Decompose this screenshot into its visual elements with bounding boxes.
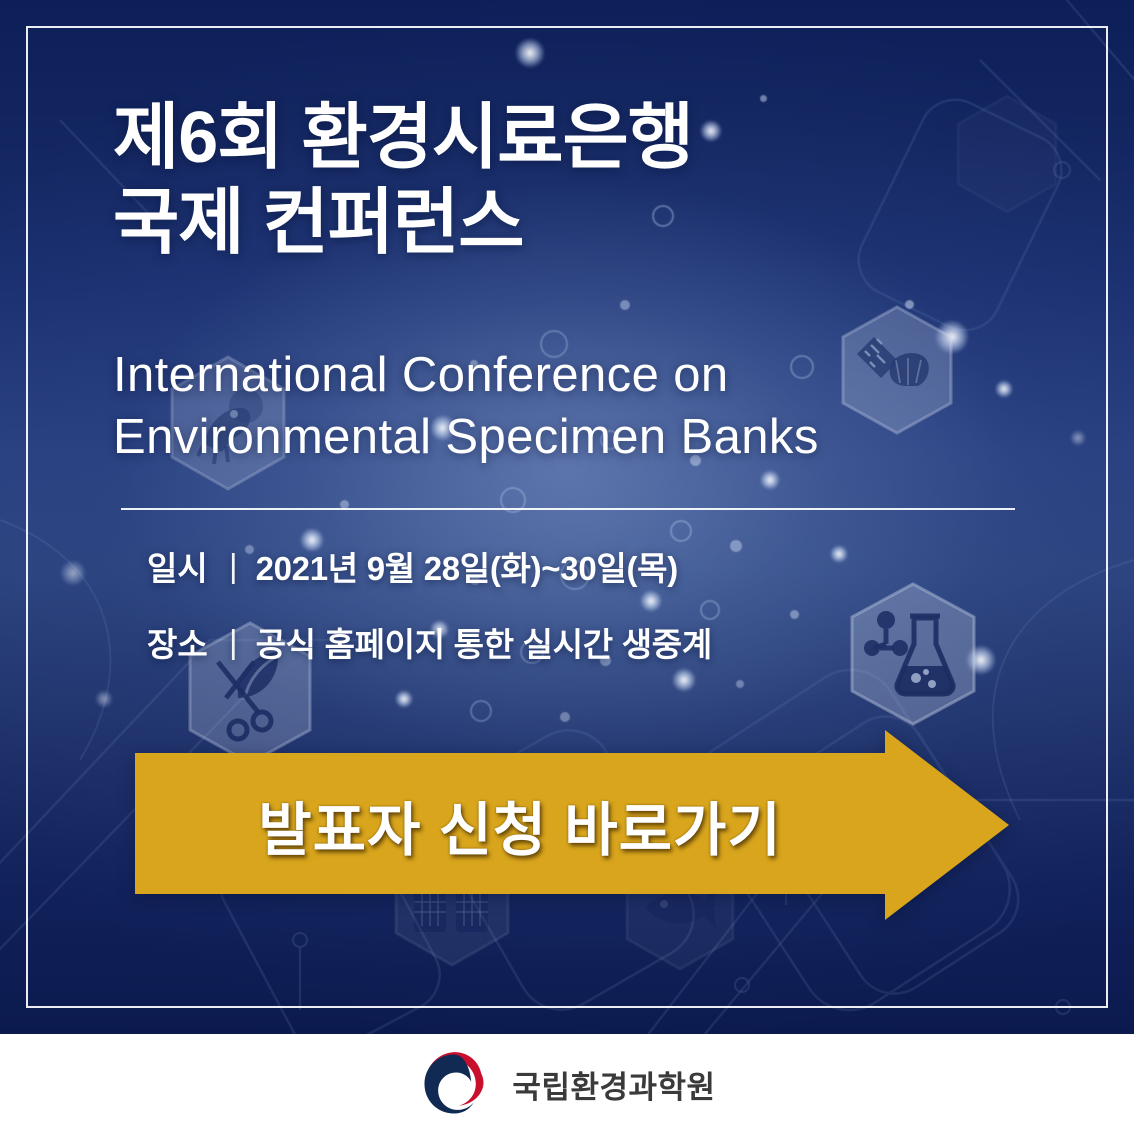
info-separator: | [229,623,238,661]
page-title-korean: 제6회 환경시료은행 국제 컨퍼런스 [113,96,1013,266]
poster-background-panel: 제6회 환경시료은행 국제 컨퍼런스 International Confere… [0,0,1134,1034]
info-label-venue: 장소 [147,618,219,666]
info-row-date: 일시 | 2021년 9월 28일(화)~30일(목) [147,528,1027,604]
government-taegeuk-logo-icon [418,1048,490,1120]
organization-name: 국립환경과학원 [512,1062,715,1107]
info-row-venue: 장소 | 공식 홈페이지 통한 실시간 생중계 [147,604,1027,680]
info-label-date: 일시 [147,542,219,590]
info-separator: | [229,547,238,585]
divider-rule [121,508,1015,510]
presenter-application-button[interactable]: 발표자 신청 바로가기 [135,728,1009,922]
info-value-venue: 공식 홈페이지 통한 실시간 생중계 [256,618,712,666]
footer-bar: 국립환경과학원 [0,1034,1134,1134]
info-value-date: 2021년 9월 28일(화)~30일(목) [256,542,678,590]
event-info-list: 일시 | 2021년 9월 28일(화)~30일(목) 장소 | 공식 홈페이지… [147,528,1027,680]
poster-canvas: 제6회 환경시료은행 국제 컨퍼런스 International Confere… [0,0,1134,1134]
page-title-english: International Conference on Environmenta… [113,344,1033,468]
presenter-application-label: 발표자 신청 바로가기 [135,728,905,922]
